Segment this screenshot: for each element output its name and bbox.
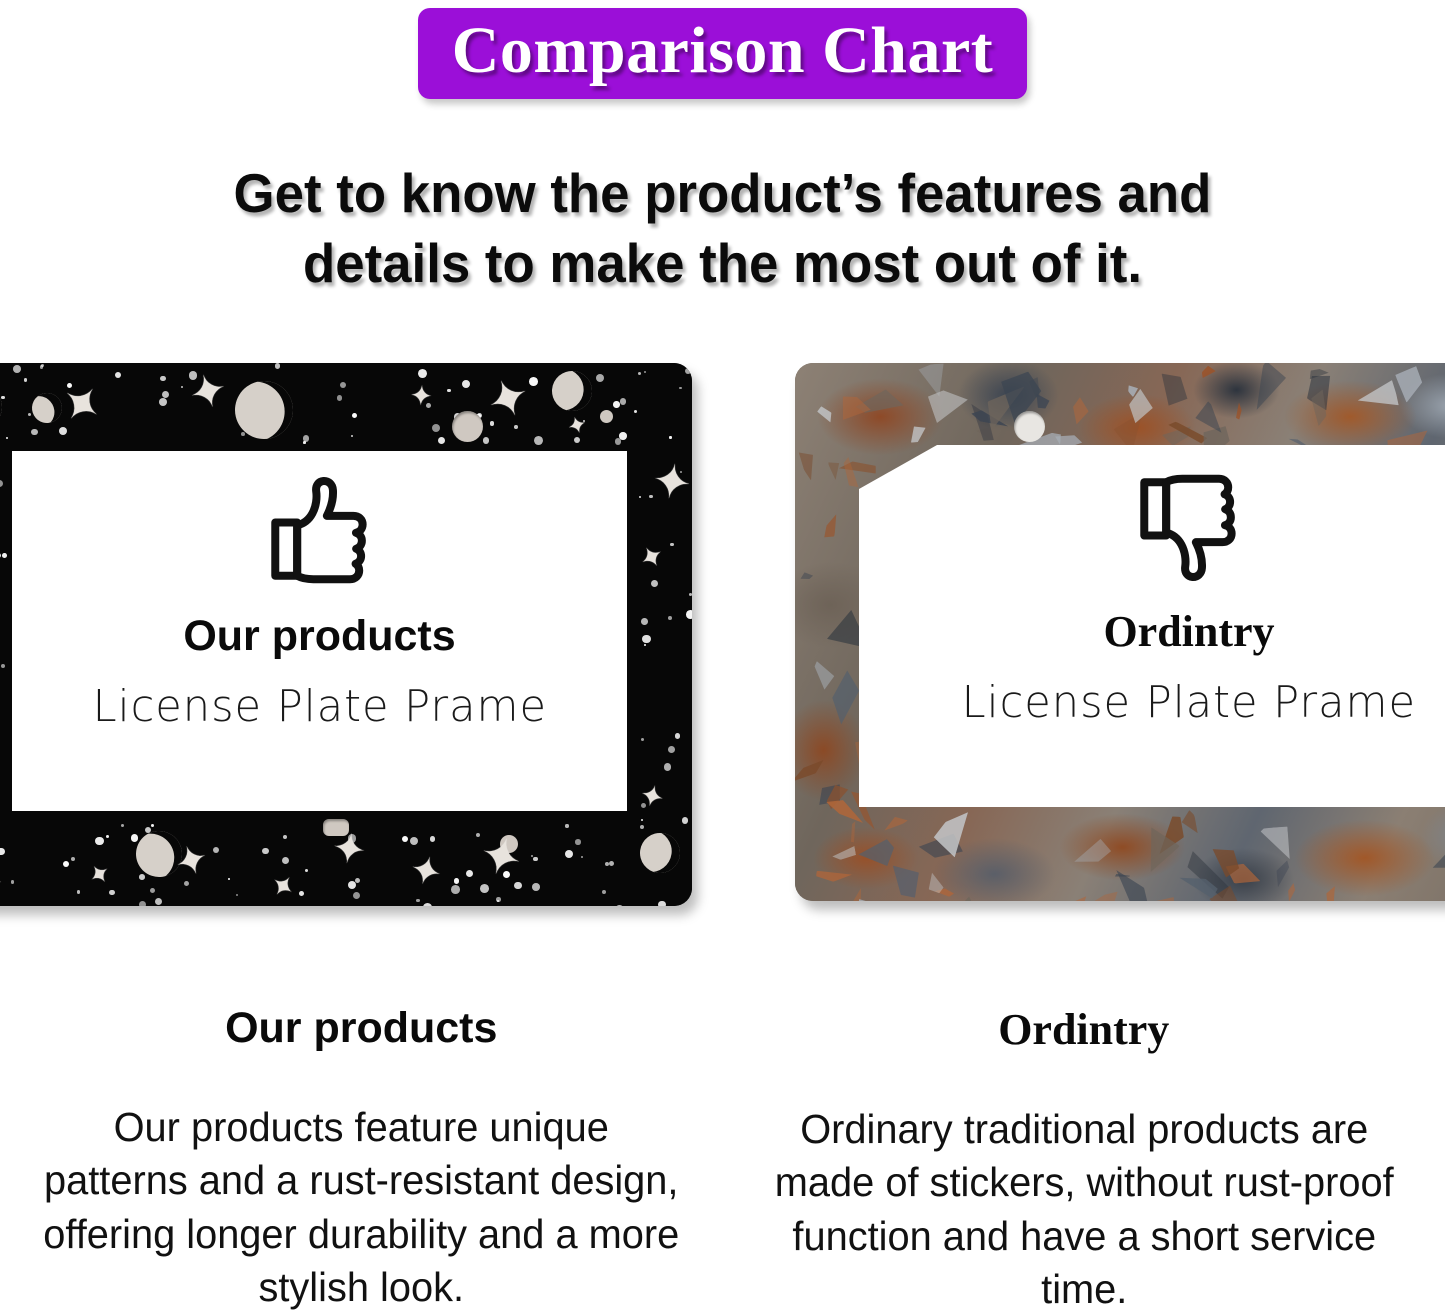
star-dot (423, 903, 432, 906)
star-dot (410, 837, 418, 845)
crescent-moon (633, 826, 688, 881)
description-body-ordinary: Ordinary traditional products are made o… (760, 1103, 1407, 1316)
star-dot (685, 368, 691, 374)
star-dot (670, 543, 674, 547)
comparison-descriptions-row: Our products Our products feature unique… (0, 990, 1445, 1314)
rust-flake (823, 513, 839, 540)
star-dot (418, 369, 427, 378)
comparison-frames-row: ✦✦✦✦✦✦✦✦✦✦✦✦✦✦✦✦ Our products License Pl… (0, 363, 1445, 915)
star-dot (337, 395, 342, 400)
star-dot (669, 436, 671, 438)
star-glyph: ✦ (0, 862, 4, 906)
rust-flake (1261, 825, 1291, 861)
thumbs-down-icon (1128, 467, 1250, 590)
rust-flake (1045, 887, 1103, 901)
star-dot (430, 836, 436, 842)
star-dot (613, 401, 619, 407)
rust-flake (795, 753, 826, 790)
rust-flake (852, 887, 865, 901)
plate-title-ordinary: Ordintry (1103, 606, 1274, 657)
rust-flake (1322, 885, 1341, 901)
rust-flake (1253, 363, 1289, 415)
star-dot (438, 437, 445, 444)
star-dot (13, 365, 21, 373)
star-dot (131, 834, 138, 841)
star-dot (609, 861, 614, 866)
rust-flake (882, 812, 909, 834)
plate-subtitle-ordinary: License Plate Prame (962, 677, 1416, 728)
star-dot (0, 553, 1, 558)
star-dot (106, 835, 109, 838)
product-frame-ours: ✦✦✦✦✦✦✦✦✦✦✦✦✦✦✦✦ Our products License Pl… (0, 363, 692, 906)
star-dot (241, 432, 245, 436)
star-dot (305, 869, 308, 872)
star-dot (605, 862, 609, 866)
star-glyph: ✦ (409, 382, 433, 410)
star-dot (581, 856, 583, 858)
mounting-hole-top-ours (452, 411, 483, 442)
star-dot (228, 878, 230, 880)
rust-flake (849, 896, 880, 901)
star-dot (619, 432, 627, 440)
star-dot (476, 833, 480, 837)
star-dot (236, 894, 238, 896)
star-dot (63, 861, 70, 868)
star-dot (644, 644, 646, 646)
star-dot (351, 435, 353, 437)
star-dot (41, 364, 44, 367)
star-dot (642, 635, 650, 643)
star-glyph: ✦ (406, 850, 446, 895)
star-dot (416, 899, 420, 903)
star-dot (565, 850, 574, 859)
plate-subtitle-ours: License Plate Prame (92, 681, 546, 732)
star-dot (651, 580, 658, 587)
star-glyph: ✦ (637, 780, 667, 814)
rust-flake (1355, 380, 1399, 414)
rust-flake (946, 896, 973, 901)
star-dot (95, 837, 103, 845)
star-dot (151, 824, 154, 827)
star-dot (1, 396, 5, 400)
star-dot (150, 888, 155, 893)
star-dot (155, 898, 163, 906)
star-dot (454, 878, 460, 884)
star-dot (533, 857, 538, 862)
star-dot (2, 553, 7, 558)
star-dot (529, 377, 538, 386)
star-glyph: ✦ (264, 869, 300, 906)
star-glyph: ✦ (185, 367, 233, 420)
subtitle-line-1: Get to know the product’s features and (29, 158, 1416, 228)
star-dot (462, 380, 470, 388)
crescent-moon (0, 377, 10, 436)
description-heading-ours: Our products (28, 1004, 695, 1053)
star-glyph: ✦ (85, 859, 117, 892)
star-dot (181, 386, 183, 388)
star-dot (664, 763, 672, 771)
thumbs-up-icon (259, 473, 381, 596)
rust-flake (858, 838, 900, 875)
star-dot (620, 398, 626, 404)
rust-flake (1288, 883, 1296, 901)
star-dot (282, 857, 289, 864)
title-banner: Comparison Chart (418, 8, 1028, 99)
star-dot (679, 387, 681, 389)
star-dot (432, 424, 440, 432)
star-dot (299, 891, 304, 896)
star-dot (77, 890, 81, 894)
page-subtitle: Get to know the product’s features and d… (29, 158, 1416, 299)
star-dot (275, 363, 281, 369)
star-dot (497, 900, 499, 902)
star-dot (353, 892, 360, 899)
star-glyph: ✦ (635, 539, 670, 575)
star-dot (139, 874, 145, 880)
star-dot (0, 480, 3, 487)
description-body-ours: Our products feature unique patterns and… (38, 1101, 685, 1314)
star-dot (483, 437, 489, 443)
star-dot (641, 819, 643, 821)
description-column-ordinary: Ordintry Ordinary traditional products a… (723, 990, 1445, 1314)
star-dot (668, 746, 675, 753)
rust-flake (1395, 366, 1427, 403)
star-dot (514, 882, 522, 890)
star-dot (283, 835, 287, 839)
star-dot (639, 496, 641, 498)
license-plate-window-ours: Our products License Plate Prame (12, 451, 627, 811)
star-dot (11, 880, 14, 883)
star-dot (602, 890, 606, 894)
star-dot (71, 857, 75, 861)
rust-flake (828, 460, 843, 481)
rust-flake (796, 447, 823, 481)
star-dot (262, 848, 269, 855)
rust-flake (1149, 367, 1195, 412)
star-dot (340, 382, 346, 388)
star-dot (641, 618, 648, 625)
crescent-moon (545, 364, 599, 418)
star-dot (159, 398, 167, 406)
rust-flake (839, 395, 872, 424)
star-dot (447, 389, 450, 392)
star-glyph: ✦ (171, 839, 214, 886)
star-dot (575, 839, 581, 845)
rust-flake (840, 456, 865, 487)
rust-flake (847, 821, 860, 843)
star-dot (121, 824, 124, 827)
rust-flake (1201, 365, 1217, 381)
rust-flake (1073, 838, 1110, 861)
star-dot (490, 421, 494, 425)
star-dot (6, 437, 8, 439)
product-frame-ordinary: Ordintry License Plate Prame (795, 363, 1445, 901)
star-dot (28, 413, 31, 416)
star-dot (355, 878, 360, 883)
star-dot (0, 848, 5, 856)
mounting-slot-bottom-ours (323, 819, 349, 836)
star-dot (352, 413, 357, 418)
star-dot (658, 901, 666, 906)
star-glyph: ✦ (474, 828, 528, 888)
subtitle-line-2: details to make the most out of it. (29, 228, 1416, 298)
star-dot (451, 885, 460, 894)
star-glyph: ✦ (648, 456, 692, 509)
rust-flake (831, 846, 856, 861)
star-dot (480, 884, 489, 893)
star-dot (565, 824, 568, 827)
license-plate-window-ordinary: Ordintry License Plate Prame (859, 445, 1445, 807)
star-dot (638, 372, 641, 375)
star-dot (532, 883, 540, 891)
star-dot (109, 890, 114, 895)
star-dot (213, 847, 219, 853)
rust-flake (927, 384, 972, 423)
star-dot (303, 441, 306, 444)
description-column-ours: Our products Our products feature unique… (0, 990, 723, 1314)
star-dot (534, 436, 543, 445)
plate-title-ours: Our products (183, 612, 455, 661)
star-dot (402, 836, 408, 842)
star-dot (616, 905, 623, 906)
star-dot (689, 593, 692, 596)
star-dot (682, 817, 688, 823)
star-dot (634, 410, 637, 413)
rust-flake (799, 571, 813, 582)
page-title: Comparison Chart (452, 16, 994, 85)
rust-flake (1271, 858, 1292, 888)
star-dot (686, 610, 692, 619)
rust-flake (1235, 402, 1242, 420)
star-dot (162, 391, 169, 398)
star-dot (160, 376, 165, 381)
mounting-hole-top-ordinary (1014, 411, 1045, 442)
star-dot (640, 825, 644, 829)
star-glyph: ✦ (565, 413, 590, 440)
rust-flake (817, 404, 837, 424)
rust-flake (890, 858, 927, 901)
rust-flake (905, 422, 926, 446)
planet-dot (600, 410, 613, 423)
header-banner-wrapper: Comparison Chart (0, 8, 1445, 99)
star-dot (644, 371, 647, 374)
star-dot (31, 429, 37, 435)
description-heading-ordinary: Ordintry (751, 1004, 1418, 1055)
star-dot (139, 901, 146, 906)
star-dot (596, 374, 604, 382)
star-dot (24, 378, 27, 381)
rust-flake (815, 864, 853, 886)
rust-flake (838, 458, 877, 478)
star-dot (1, 664, 5, 668)
star-dot (668, 616, 672, 620)
star-dot (675, 733, 680, 738)
rust-flake (814, 659, 836, 691)
star-dot (115, 372, 121, 378)
rust-flake (1429, 835, 1445, 874)
star-dot (641, 738, 644, 741)
rust-flake (1071, 396, 1090, 424)
